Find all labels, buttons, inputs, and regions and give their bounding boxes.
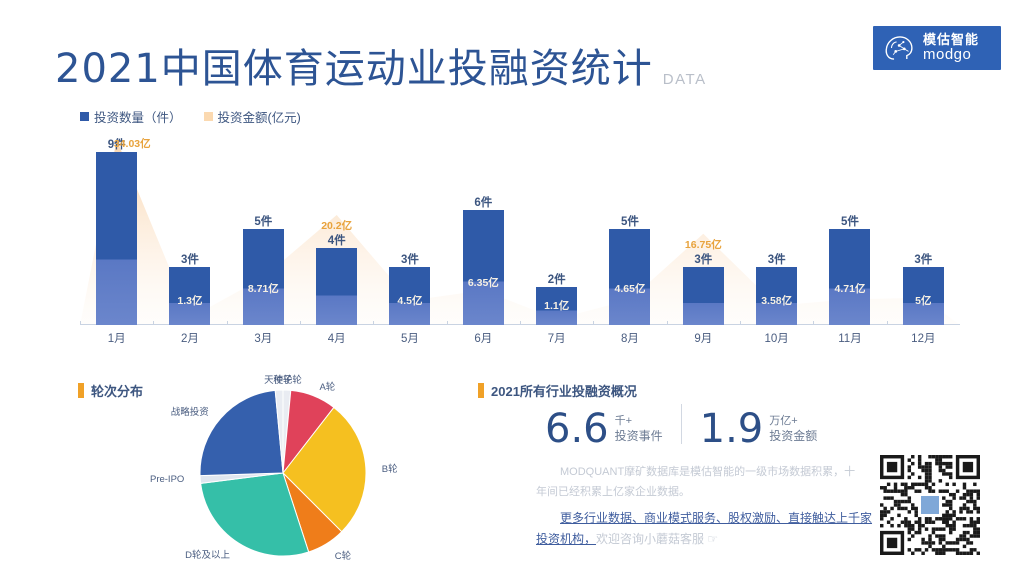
x-axis-label: 1月 — [80, 330, 153, 346]
axis-tick — [667, 321, 668, 325]
bar-amount-label: 4.65亿 — [615, 281, 646, 296]
stat-amount: 1.9 万亿+ 投资金额 — [700, 410, 818, 448]
axis-tick — [740, 321, 741, 325]
bar[interactable]: 9件34.03亿 — [96, 152, 137, 325]
bar-count-label: 6件 — [474, 194, 492, 210]
pie-label: 战略投资 — [171, 404, 209, 418]
axis-tick — [813, 321, 814, 325]
stat-events-caption: 投资事件 — [615, 429, 663, 444]
x-axis-label: 7月 — [520, 330, 593, 346]
legend-label-amount: 投资金额(亿元) — [218, 107, 301, 126]
axis-tick — [447, 321, 448, 325]
bar[interactable]: 3件5亿 — [903, 267, 944, 325]
axis-tick — [373, 321, 374, 325]
stat-events: 6.6 千+ 投资事件 — [545, 410, 663, 448]
bar-amount-label: 34.03亿 — [114, 136, 151, 151]
x-axis-label: 2月 — [153, 330, 226, 346]
bar-amount-label: 6.35亿 — [468, 275, 499, 290]
stat-amount-number: 1.9 — [700, 410, 764, 448]
bar-slot: 4件20.2亿 — [300, 130, 373, 325]
chart-legend: 投资数量（件） 投资金额(亿元) — [80, 107, 301, 126]
accent-bar-icon — [478, 383, 484, 398]
x-axis-label: 10月 — [740, 330, 813, 346]
legend-label-count: 投资数量（件） — [94, 107, 182, 126]
x-axis-label: 12月 — [887, 330, 960, 346]
logo-name-cn: 模估智能 — [923, 33, 979, 47]
pie-label: C轮 — [335, 548, 351, 562]
bar-amount-label: 4.71亿 — [835, 281, 866, 296]
page-subtitle: DATA — [663, 71, 707, 94]
bar-count-label: 5件 — [621, 213, 639, 229]
bar-slot: 6件6.35亿 — [447, 130, 520, 325]
bar-count-label: 3件 — [914, 251, 932, 267]
x-axis-label: 8月 — [593, 330, 666, 346]
bar-slot: 5件4.65亿 — [593, 130, 666, 325]
brand-logo: 模估智能 modgo — [873, 26, 1001, 70]
bar-amount-label: 4.5亿 — [397, 293, 422, 308]
axis-tick — [80, 321, 81, 325]
bar-count-label: 3件 — [768, 251, 786, 267]
bar[interactable]: 5件4.65亿 — [609, 229, 650, 325]
bar-count-label: 5件 — [841, 213, 859, 229]
axis-tick — [887, 321, 888, 325]
bar[interactable]: 2件1.1亿 — [536, 287, 577, 325]
chart-x-axis-labels: 1月2月3月4月5月6月7月8月9月10月11月12月 — [80, 330, 960, 348]
bar-slot: 9件34.03亿 — [80, 130, 153, 325]
stat-amount-caption: 投资金额 — [769, 429, 817, 444]
stat-events-unit: 千+ — [615, 415, 663, 429]
bar-count-label: 5件 — [254, 213, 272, 229]
bar-slot: 5件4.71亿 — [813, 130, 886, 325]
qr-center-logo-icon — [920, 495, 940, 515]
bar[interactable]: 3件4.5亿 — [389, 267, 430, 325]
bar-count-label: 3件 — [181, 251, 199, 267]
axis-tick — [593, 321, 594, 325]
bar-slot: 3件5亿 — [887, 130, 960, 325]
pie-slice[interactable] — [200, 390, 283, 475]
bar[interactable]: 4件20.2亿 — [316, 248, 357, 325]
rounds-pie-chart: 种子轮A轮B轮C轮D轮及以上Pre-IPO战略投资天使轮 — [150, 378, 435, 568]
accent-bar-icon — [78, 383, 84, 398]
database-description: MODQUANT摩矿数据库是模估智能的一级市场数据积累，十年间已经积累上亿家企业… — [536, 462, 866, 502]
qr-code[interactable] — [880, 455, 980, 555]
investment-bar-chart: 9件34.03亿3件1.3亿5件8.71亿4件20.2亿3件4.5亿6件6.35… — [80, 130, 960, 325]
x-axis-label: 5月 — [373, 330, 446, 346]
section-title-rounds: 轮次分布 — [91, 381, 143, 400]
axis-tick — [227, 321, 228, 325]
bar-count-label: 3件 — [694, 251, 712, 267]
overview-stats: 6.6 千+ 投资事件 1.9 万亿+ 投资金额 — [545, 404, 817, 448]
bar-amount-label: 16.75亿 — [685, 237, 722, 252]
services-callout: 更多行业数据、商业模式服务、股权激励、直接触达上千家投资机构，欢迎咨询小蘑菇客服… — [536, 508, 876, 550]
pie-label: B轮 — [382, 461, 398, 475]
section-title-overview: 2021所有行业投融资概况 — [491, 381, 637, 400]
bar-amount-label: 5亿 — [915, 293, 931, 308]
stat-divider — [681, 404, 682, 444]
brain-head-icon — [883, 31, 917, 65]
x-axis-label: 4月 — [300, 330, 373, 346]
bar[interactable]: 6件6.35亿 — [463, 210, 504, 325]
x-axis-label: 6月 — [447, 330, 520, 346]
legend-square-icon — [80, 112, 89, 121]
stat-events-number: 6.6 — [545, 410, 609, 448]
page-title: 2021中国体育运动业投融资统计 — [55, 36, 653, 94]
bar-slot: 3件1.3亿 — [153, 130, 226, 325]
stat-amount-unit: 万亿+ — [769, 415, 817, 429]
bar[interactable]: 5件4.71亿 — [829, 229, 870, 325]
page-header: 2021中国体育运动业投融资统计 DATA — [55, 36, 707, 94]
pie-label: A轮 — [319, 379, 335, 393]
bar[interactable]: 3件1.3亿 — [169, 267, 210, 325]
logo-name-en: modgo — [923, 47, 979, 63]
bar-amount-label: 1.1亿 — [544, 298, 569, 313]
bar-amount-label: 20.2亿 — [321, 218, 352, 233]
x-axis-label: 3月 — [227, 330, 300, 346]
section-heading-overview: 2021所有行业投融资概况 — [478, 381, 637, 400]
bar[interactable]: 3件3.58亿 — [756, 267, 797, 325]
section-heading-rounds: 轮次分布 — [78, 381, 143, 400]
bar-count-label: 2件 — [548, 271, 566, 287]
axis-tick — [300, 321, 301, 325]
bar-amount-label: 8.71亿 — [248, 281, 279, 296]
bar[interactable]: 5件8.71亿 — [243, 229, 284, 325]
bar-slot: 3件4.5亿 — [373, 130, 446, 325]
axis-tick — [520, 321, 521, 325]
bar-slot: 5件8.71亿 — [227, 130, 300, 325]
legend-item-count: 投资数量（件） — [80, 107, 182, 126]
bar-slot: 3件3.58亿 — [740, 130, 813, 325]
x-axis-label: 11月 — [813, 330, 886, 346]
bar-slot: 3件16.75亿 — [667, 130, 740, 325]
x-axis-label: 9月 — [667, 330, 740, 346]
axis-tick — [153, 321, 154, 325]
bar-count-label: 3件 — [401, 251, 419, 267]
bar-count-label: 4件 — [328, 232, 346, 248]
bar-slot: 2件1.1亿 — [520, 130, 593, 325]
legend-square-icon — [204, 112, 213, 121]
pie-label: D轮及以上 — [185, 547, 230, 561]
bar-amount-label: 3.58亿 — [761, 293, 792, 308]
pie-label: 天使轮 — [264, 372, 293, 386]
bar-amount-label: 1.3亿 — [177, 293, 202, 308]
pie-label: Pre-IPO — [150, 474, 184, 485]
services-muted-text: 欢迎咨询小蘑菇客服 ☞ — [596, 532, 718, 546]
legend-item-amount: 投资金额(亿元) — [204, 107, 301, 126]
bar[interactable]: 3件16.75亿 — [683, 267, 724, 325]
